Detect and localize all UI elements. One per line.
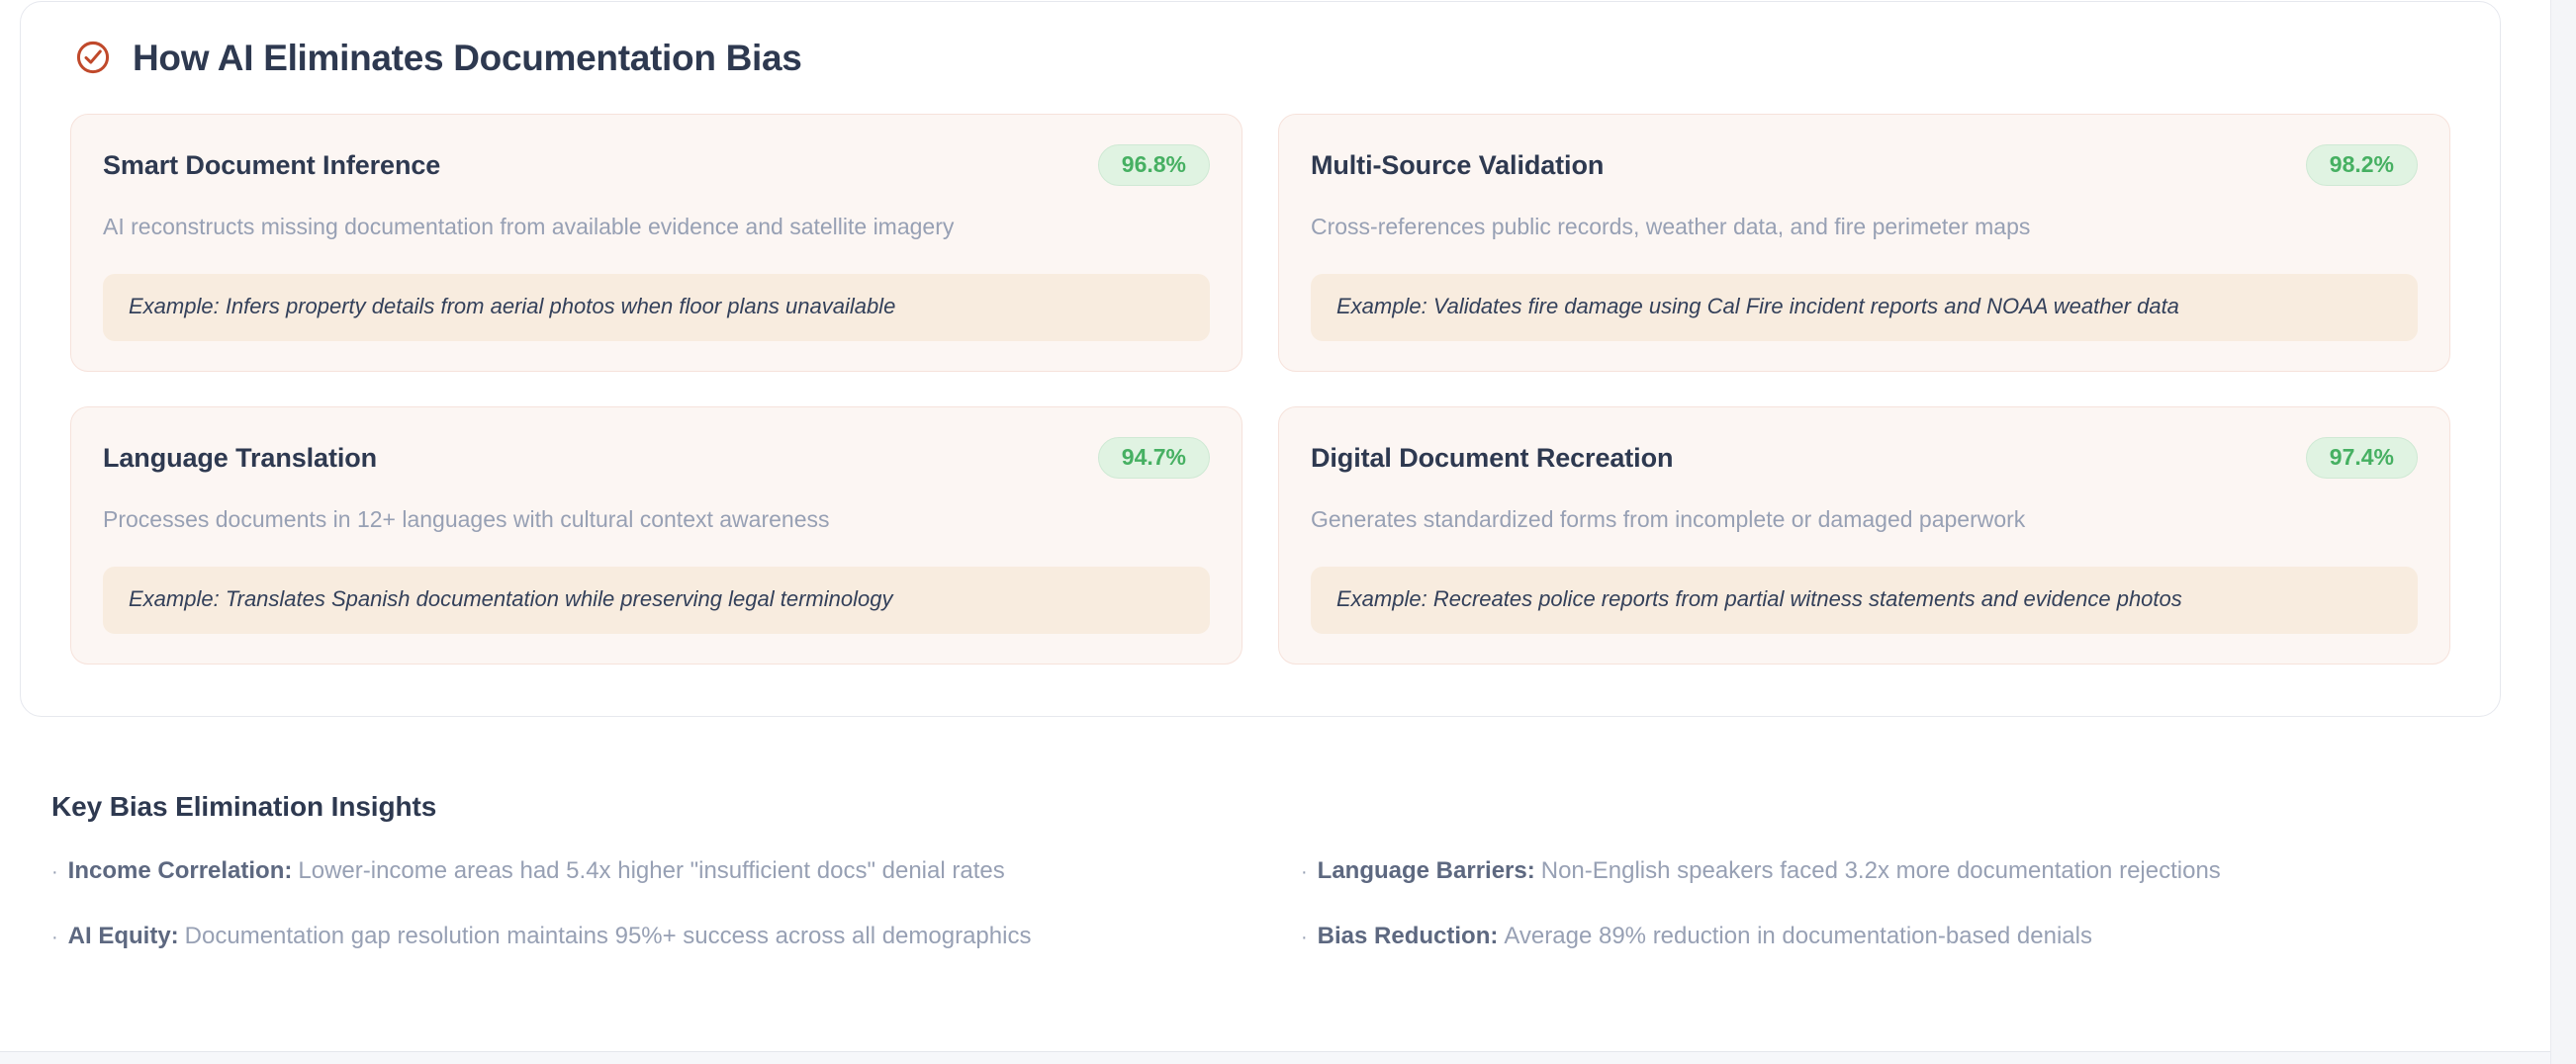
documentation-bias-panel: How AI Eliminates Documentation Bias Sma… xyxy=(20,1,2501,717)
feature-card-digital-document-recreation[interactable]: Digital Document Recreation 97.4% Genera… xyxy=(1278,406,2450,665)
example-text: Example: Translates Spanish documentatio… xyxy=(129,585,1184,614)
accuracy-badge: 94.7% xyxy=(1098,437,1210,479)
insight-item-ai-equity: · AI Equity:Documentation gap resolution… xyxy=(51,921,1245,951)
card-description: AI reconstructs missing documentation fr… xyxy=(103,212,1210,242)
panel-header: How AI Eliminates Documentation Bias xyxy=(70,2,2450,76)
feature-card-smart-document-inference[interactable]: Smart Document Inference 96.8% AI recons… xyxy=(70,114,1242,372)
example-box: Example: Validates fire damage using Cal… xyxy=(1311,274,2418,341)
page-bottom-strip xyxy=(0,1052,2550,1064)
app-viewport: How AI Eliminates Documentation Bias Sma… xyxy=(0,0,2576,1064)
bullet-icon: · xyxy=(51,928,58,947)
bullet-icon: · xyxy=(1301,862,1308,882)
card-header: Smart Document Inference 96.8% xyxy=(103,144,1210,186)
check-circle-icon xyxy=(74,39,112,76)
feature-card-multi-source-validation[interactable]: Multi-Source Validation 98.2% Cross-refe… xyxy=(1278,114,2450,372)
example-box: Example: Recreates police reports from p… xyxy=(1311,567,2418,634)
insight-label: Bias Reduction: xyxy=(1318,923,1499,949)
feature-card-grid: Smart Document Inference 96.8% AI recons… xyxy=(70,114,2450,665)
card-title: Language Translation xyxy=(103,443,377,474)
insight-label: AI Equity: xyxy=(68,923,179,949)
insights-grid: · Income Correlation:Lower-income areas … xyxy=(51,855,2495,951)
example-text: Example: Infers property details from ae… xyxy=(129,293,1184,321)
card-header: Digital Document Recreation 97.4% xyxy=(1311,437,2418,479)
example-text: Example: Recreates police reports from p… xyxy=(1336,585,2392,614)
insight-item-income-correlation: · Income Correlation:Lower-income areas … xyxy=(51,855,1245,886)
card-description: Cross-references public records, weather… xyxy=(1311,212,2418,242)
card-title: Digital Document Recreation xyxy=(1311,443,1673,474)
insight-item-language-barriers: · Language Barriers:Non-English speakers… xyxy=(1301,855,2495,886)
card-title: Multi-Source Validation xyxy=(1311,150,1604,181)
card-header: Language Translation 94.7% xyxy=(103,437,1210,479)
accuracy-badge: 97.4% xyxy=(2306,437,2418,479)
insight-item-bias-reduction: · Bias Reduction:Average 89% reduction i… xyxy=(1301,921,2495,951)
insight-text: Documentation gap resolution maintains 9… xyxy=(185,923,1032,949)
bullet-icon: · xyxy=(51,862,58,882)
insight-text: Non-English speakers faced 3.2x more doc… xyxy=(1541,857,2221,884)
example-box: Example: Infers property details from ae… xyxy=(103,274,1210,341)
insight-text: Lower-income areas had 5.4x higher "insu… xyxy=(298,857,1004,884)
card-description: Generates standardized forms from incomp… xyxy=(1311,504,2418,535)
page-content: How AI Eliminates Documentation Bias Sma… xyxy=(0,0,2550,1064)
insight-text: Average 89% reduction in documentation-b… xyxy=(1504,923,2092,949)
example-text: Example: Validates fire damage using Cal… xyxy=(1336,293,2392,321)
key-insights-section: Key Bias Elimination Insights · Income C… xyxy=(51,791,2495,951)
vertical-scrollbar-track[interactable] xyxy=(2550,0,2576,1064)
bullet-icon: · xyxy=(1301,928,1308,947)
insight-label: Income Correlation: xyxy=(68,857,293,884)
example-box: Example: Translates Spanish documentatio… xyxy=(103,567,1210,634)
card-title: Smart Document Inference xyxy=(103,150,440,181)
insight-label: Language Barriers: xyxy=(1318,857,1535,884)
page-title: How AI Eliminates Documentation Bias xyxy=(133,40,802,76)
accuracy-badge: 98.2% xyxy=(2306,144,2418,186)
card-header: Multi-Source Validation 98.2% xyxy=(1311,144,2418,186)
card-description: Processes documents in 12+ languages wit… xyxy=(103,504,1210,535)
insights-title: Key Bias Elimination Insights xyxy=(51,791,2495,823)
accuracy-badge: 96.8% xyxy=(1098,144,1210,186)
feature-card-language-translation[interactable]: Language Translation 94.7% Processes doc… xyxy=(70,406,1242,665)
